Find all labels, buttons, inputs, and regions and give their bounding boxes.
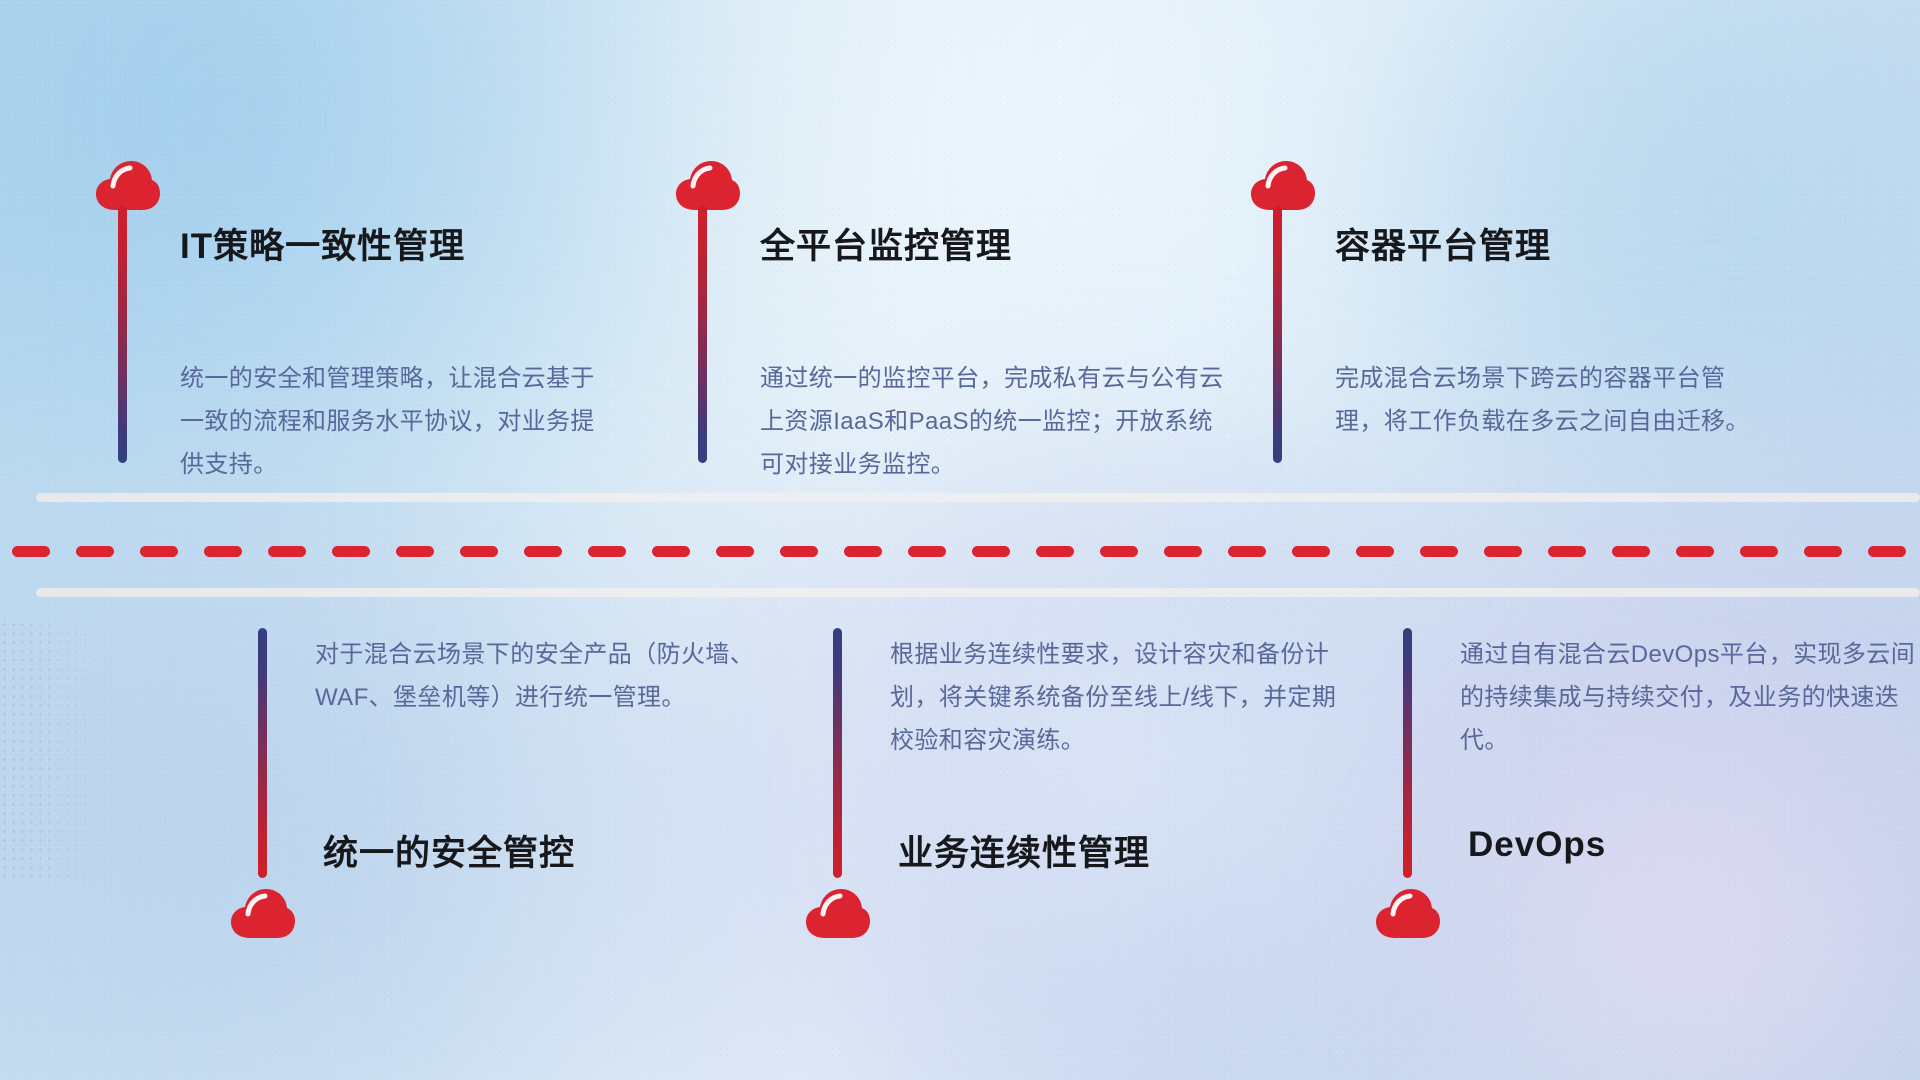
dashed-road-divider <box>0 546 1920 557</box>
divider-dash <box>1804 546 1842 557</box>
divider-dash <box>524 546 562 557</box>
divider-dash <box>1484 546 1522 557</box>
divider-dash <box>1612 546 1650 557</box>
infographic-canvas: IT策略一致性管理 统一的安全和管理策略，让混合云基于一致的流程和服务水平协议，… <box>0 0 1920 1080</box>
connector-stem <box>118 205 127 463</box>
card-body-text: 统一的安全和管理策略，让混合云基于一致的流程和服务水平协议，对业务提供支持。 <box>180 357 610 486</box>
divider-dash <box>1164 546 1202 557</box>
divider-dash <box>1292 546 1330 557</box>
connector-stem <box>258 628 267 878</box>
card-body-text: 通过自有混合云DevOps平台，实现多云间的持续集成与持续交付，及业务的快速迭代… <box>1460 633 1920 762</box>
divider-dash <box>1036 546 1074 557</box>
divider-dash <box>12 546 50 557</box>
divider-dash <box>908 546 946 557</box>
divider-dash <box>1740 546 1778 557</box>
card-heading: DevOps <box>1468 825 1606 865</box>
card-heading: 业务连续性管理 <box>898 825 1150 876</box>
divider-dash <box>1548 546 1586 557</box>
cloud-icon <box>230 888 296 940</box>
divider-dash <box>972 546 1010 557</box>
divider-dash <box>588 546 626 557</box>
cloud-icon <box>805 888 871 940</box>
divider-dash <box>652 546 690 557</box>
divider-dash <box>844 546 882 557</box>
card-heading: 全平台监控管理 <box>760 218 1012 269</box>
card-body-text: 通过统一的监控平台，完成私有云与公有云上资源IaaS和PaaS的统一监控；开放系… <box>760 357 1230 486</box>
card-heading: 统一的安全管控 <box>323 825 575 876</box>
divider-dash <box>716 546 754 557</box>
card-heading: 容器平台管理 <box>1335 218 1551 269</box>
divider-dash <box>460 546 498 557</box>
cloud-icon <box>1250 160 1316 212</box>
divider-dash <box>780 546 818 557</box>
divider-dash <box>396 546 434 557</box>
divider-dash <box>140 546 178 557</box>
connector-stem <box>1273 205 1282 463</box>
divider-rail-top <box>36 493 1920 502</box>
divider-dash <box>1228 546 1266 557</box>
card-body-text: 根据业务连续性要求，设计容灾和备份计划，将关键系统备份至线上/线下，并定期校验和… <box>890 633 1360 762</box>
card-body-text: 对于混合云场景下的安全产品（防火墙、WAF、堡垒机等）进行统一管理。 <box>315 633 785 719</box>
cloud-icon <box>675 160 741 212</box>
divider-dash <box>204 546 242 557</box>
connector-stem <box>1403 628 1412 878</box>
divider-dash <box>1420 546 1458 557</box>
connector-stem <box>698 205 707 463</box>
card-heading: IT策略一致性管理 <box>180 218 465 269</box>
divider-dash <box>332 546 370 557</box>
divider-dash <box>76 546 114 557</box>
connector-stem <box>833 628 842 878</box>
cloud-icon <box>1375 888 1441 940</box>
divider-rail-bottom <box>36 588 1920 597</box>
divider-dash <box>1100 546 1138 557</box>
cloud-icon <box>95 160 161 212</box>
card-body-text: 完成混合云场景下跨云的容器平台管理，将工作负载在多云之间自由迁移。 <box>1335 357 1765 443</box>
divider-dash <box>1356 546 1394 557</box>
divider-dash <box>268 546 306 557</box>
divider-dash <box>1676 546 1714 557</box>
divider-dash <box>1868 546 1906 557</box>
